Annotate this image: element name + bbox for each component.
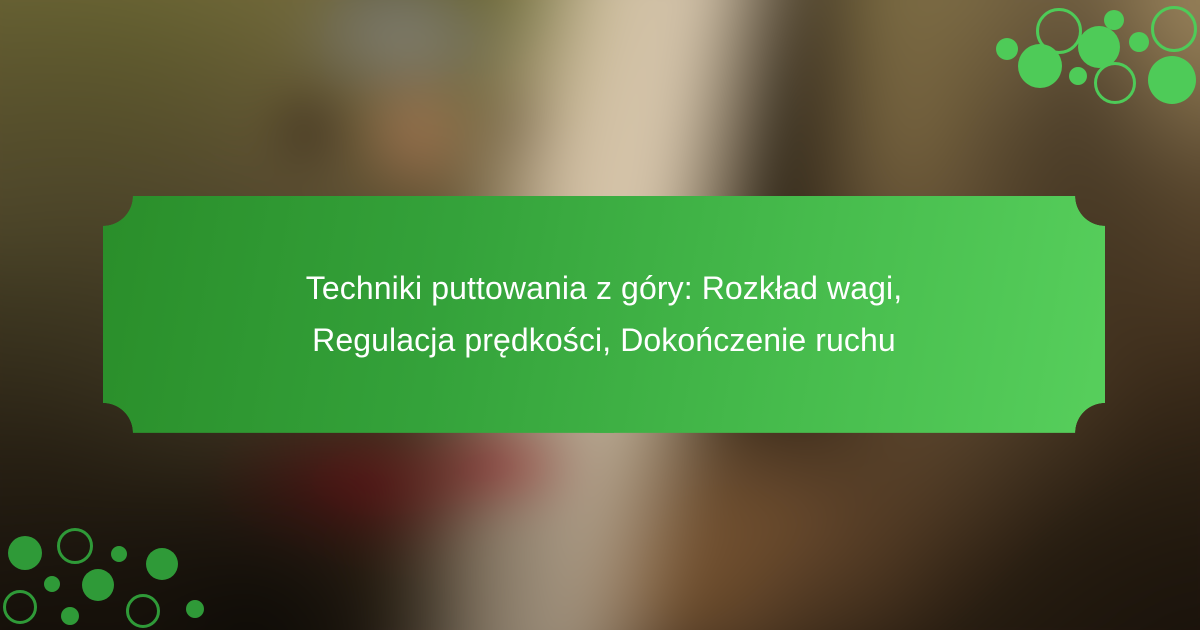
title-banner: Techniki puttowania z góry: Rozkład wagi… xyxy=(103,196,1105,433)
page-title: Techniki puttowania z góry: Rozkład wagi… xyxy=(239,263,969,367)
banner-card: Techniki puttowania z góry: Rozkład wagi… xyxy=(0,0,1200,630)
